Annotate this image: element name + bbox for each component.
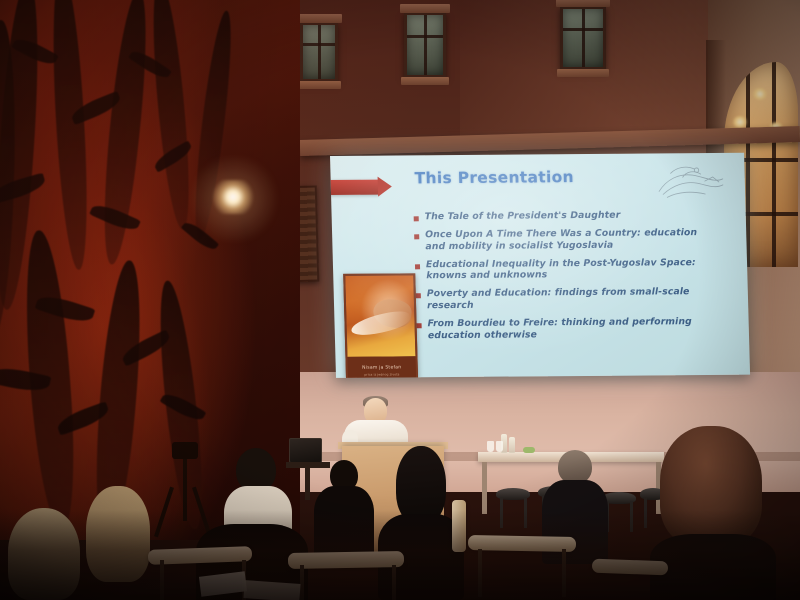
bullet-square-icon bbox=[414, 234, 419, 239]
book-cover-image: Nisam ja Stefan prica iz jednog zivota bbox=[343, 273, 418, 378]
building-window-right bbox=[560, 6, 606, 70]
stage-spotlight-icon bbox=[212, 180, 254, 214]
projection-screen: This Presentation The Tale of the Presid… bbox=[330, 153, 750, 378]
ceiling-lamp-icon bbox=[752, 88, 768, 100]
plate bbox=[523, 447, 535, 453]
bar-stool-leg bbox=[524, 498, 527, 528]
photo-scene: This Presentation The Tale of the Presid… bbox=[0, 0, 800, 600]
bullet-text: The Tale of the President's Daughter bbox=[425, 210, 621, 223]
bar-stool-leg bbox=[630, 502, 633, 532]
list-item: Poverty and Education: findings from sma… bbox=[416, 286, 722, 312]
building-window-center bbox=[404, 12, 446, 78]
list-item: The Tale of the President's Daughter bbox=[414, 209, 719, 223]
bullet-square-icon bbox=[415, 264, 420, 269]
laptop-stand-pole bbox=[305, 466, 310, 500]
bullet-text: Poverty and Education: findings from sma… bbox=[427, 286, 722, 311]
bullet-text: Once Upon A Time There Was a Country: ed… bbox=[425, 227, 720, 252]
red-arrow-icon bbox=[330, 180, 379, 195]
building-window-left bbox=[300, 22, 338, 82]
list-item: From Bourdieu to Freire: thinking and pe… bbox=[416, 316, 722, 342]
bar-stool-leg bbox=[500, 498, 503, 528]
drinking-glass bbox=[496, 441, 503, 452]
bullet-text: From Bourdieu to Freire: thinking and pe… bbox=[427, 316, 722, 341]
book-subtitle-text: prica iz jednog zivota bbox=[364, 373, 399, 377]
chair-leg bbox=[392, 565, 396, 600]
bullet-text: Educational Inequality in the Post-Yugos… bbox=[426, 257, 721, 282]
drinking-glass bbox=[487, 441, 494, 452]
list-item: Educational Inequality in the Post-Yugos… bbox=[415, 257, 721, 283]
chair-back bbox=[592, 559, 668, 576]
book-title-text: Nisam ja Stefan bbox=[362, 366, 401, 371]
slide-title: This Presentation bbox=[414, 168, 574, 187]
bullet-square-icon bbox=[417, 323, 422, 328]
bottle bbox=[509, 437, 515, 453]
chair-back bbox=[288, 551, 404, 569]
chair-leg bbox=[478, 549, 482, 597]
bullet-square-icon bbox=[414, 216, 419, 221]
slide-sketch-graphic bbox=[652, 161, 731, 204]
slide-bullet-list: The Tale of the President's Daughter Onc… bbox=[414, 209, 723, 348]
ceiling-lamp-icon bbox=[732, 116, 748, 128]
chair-back bbox=[468, 535, 576, 552]
list-item: Once Upon A Time There Was a Country: ed… bbox=[414, 227, 720, 253]
chair-leg bbox=[562, 549, 566, 597]
laptop-screen bbox=[289, 438, 322, 463]
bar-counter-leg bbox=[482, 462, 487, 514]
book-cover-artwork bbox=[345, 275, 415, 357]
book-cover-caption: Nisam ja Stefan prica iz jednog zivota bbox=[347, 357, 416, 378]
chair-leg bbox=[160, 560, 164, 600]
chair-leg bbox=[300, 565, 304, 600]
paper-sheet bbox=[243, 580, 300, 600]
bar-stool-leg bbox=[644, 498, 647, 528]
chair-back bbox=[452, 500, 466, 552]
bullet-square-icon bbox=[416, 294, 421, 299]
